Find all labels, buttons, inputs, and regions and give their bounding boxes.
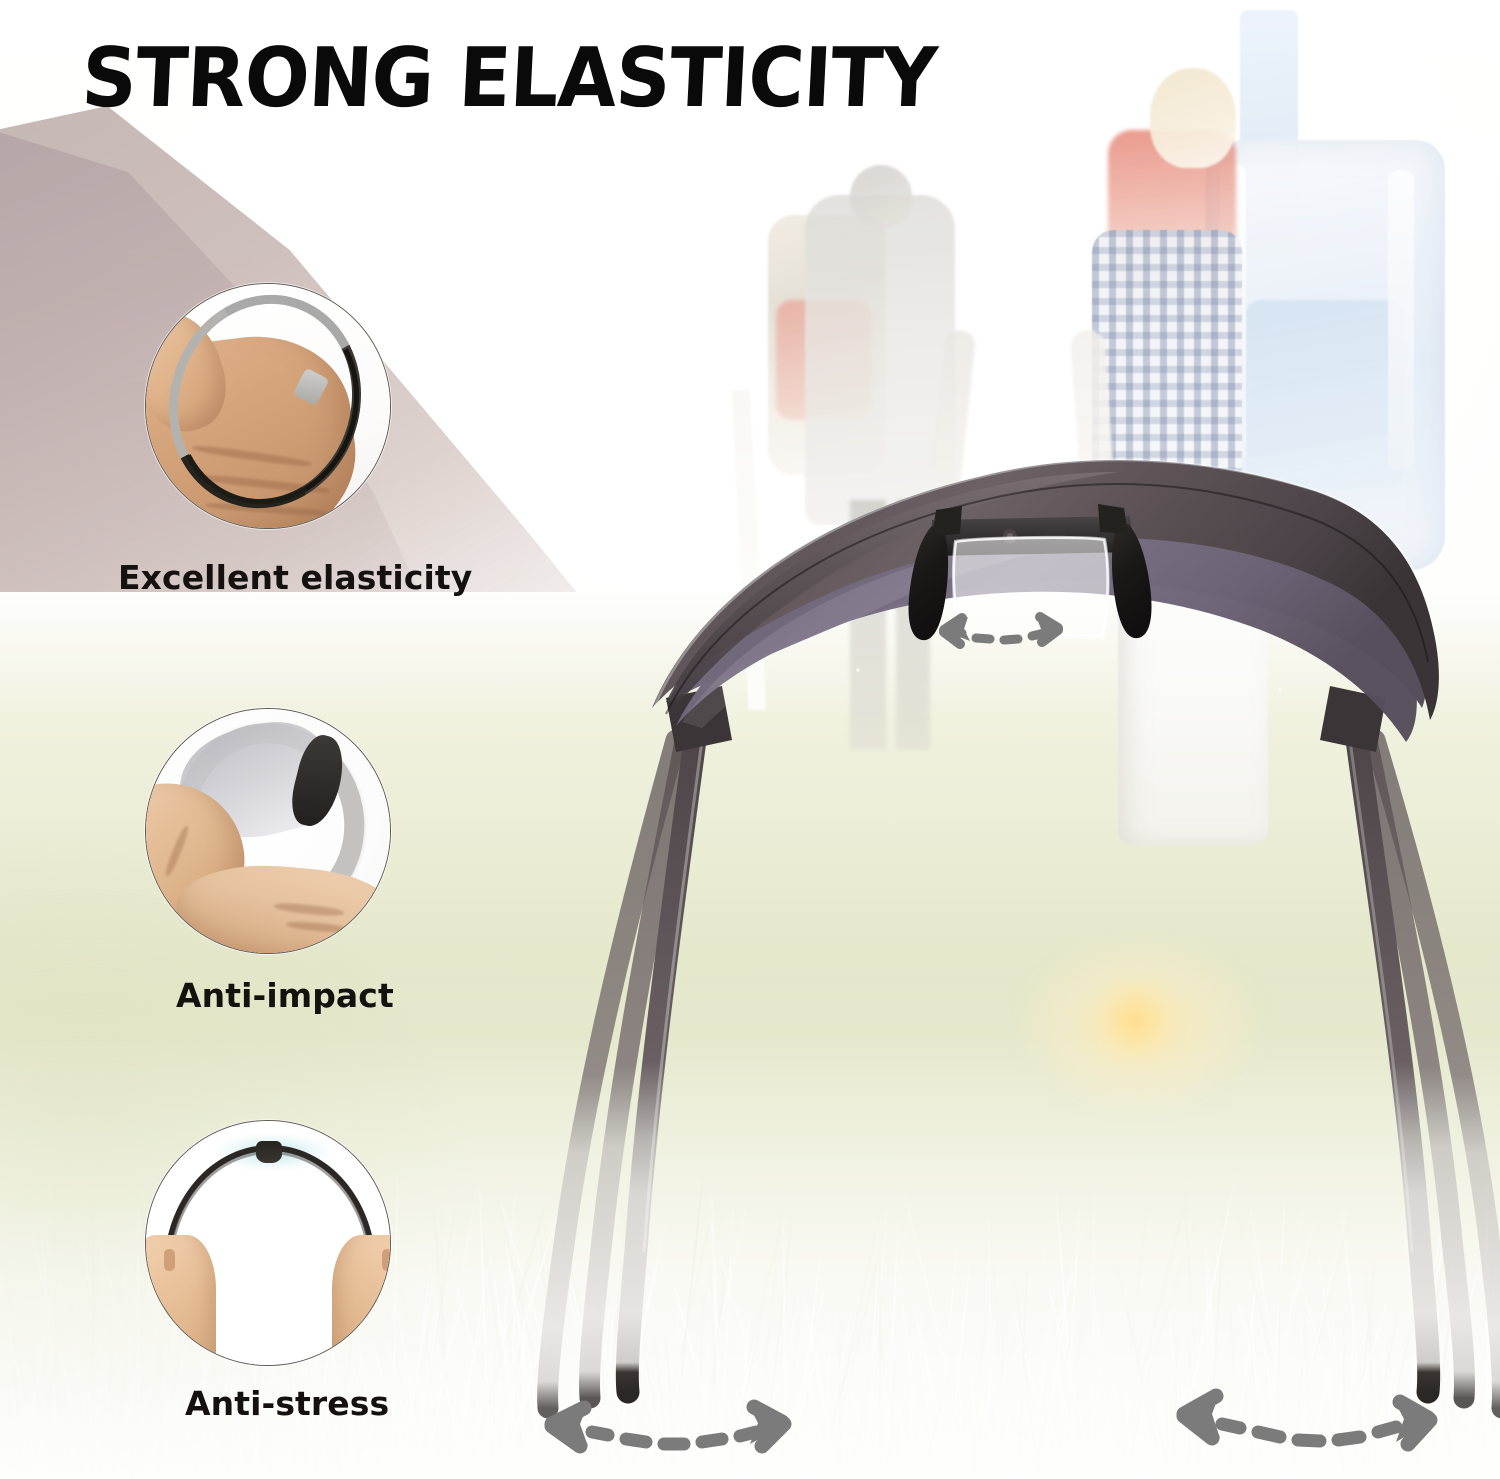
inset3-fingernail-right (382, 1249, 391, 1271)
nose-pad-bridge-right (1098, 504, 1128, 534)
hiker-right-head (1150, 68, 1236, 168)
feature-label-anti-stress: Anti-stress (185, 1384, 389, 1423)
inset3-nose-bridge (256, 1141, 282, 1163)
inset-photo-anti-stress (145, 1120, 391, 1366)
inset-photo-excellent-elasticity (145, 283, 391, 529)
feature-label-anti-impact: Anti-impact (176, 976, 394, 1015)
hiker-right-backpack-strap-right (1388, 170, 1414, 470)
flex-arrow-temple-right (1162, 1382, 1482, 1472)
flex-arrow-temple-left (508, 1388, 828, 1472)
nose-pad-bridge-left (932, 506, 962, 536)
inset3-hand-left (145, 1235, 216, 1366)
inset3-fingernail-left (164, 1249, 175, 1271)
flex-arrow-bridge (910, 600, 1090, 670)
inset-photo-anti-impact (145, 708, 391, 954)
product-sunglasses (470, 440, 1500, 1440)
product-feature-graphic: STRONG ELASTICITY (0, 0, 1500, 1479)
feature-label-excellent-elasticity: Excellent elasticity (118, 558, 472, 597)
temple-arm-left-ghosts (548, 736, 686, 1408)
page-title: STRONG ELASTICITY (80, 36, 938, 123)
hiker-left-head (850, 165, 912, 227)
